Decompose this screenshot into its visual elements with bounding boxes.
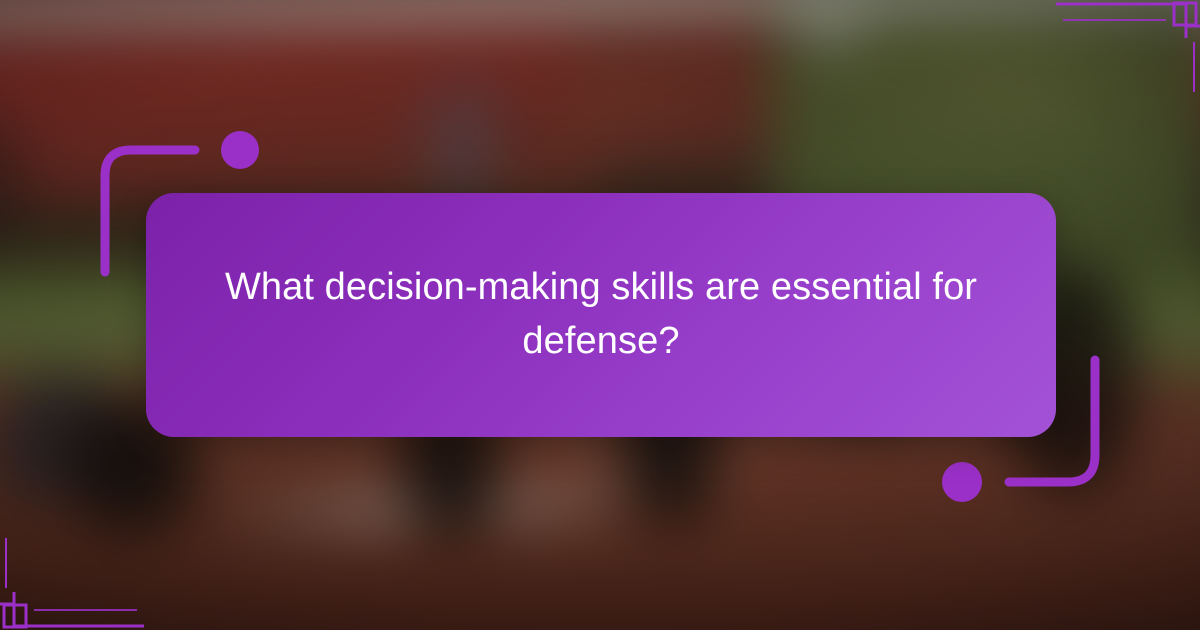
question-card: What decision-making skills are essentia… <box>146 193 1056 437</box>
question-text: What decision-making skills are essentia… <box>206 261 996 369</box>
question-card-canvas: What decision-making skills are essentia… <box>0 0 1200 630</box>
